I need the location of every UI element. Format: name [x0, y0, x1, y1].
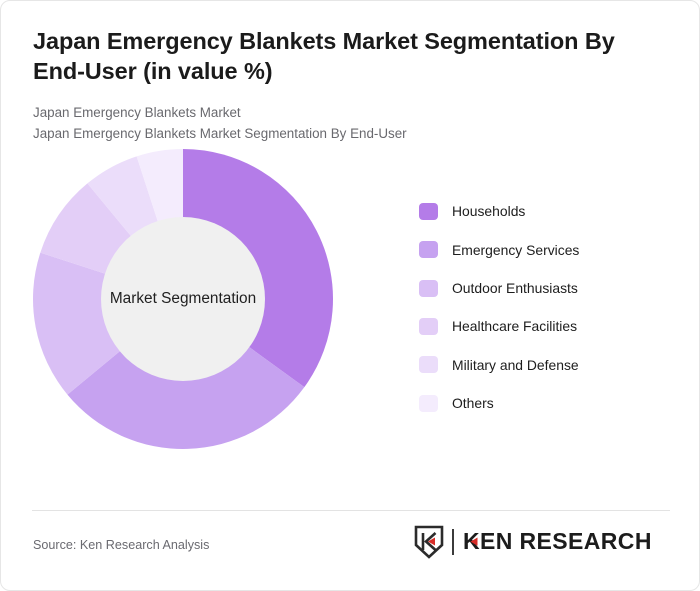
legend-item[interactable]: Emergency Services [419, 230, 579, 268]
legend-item-label: Healthcare Facilities [452, 318, 577, 334]
legend-item-label: Emergency Services [452, 242, 579, 258]
legend-item-label: Outdoor Enthusiasts [452, 280, 578, 296]
legend-item-label: Military and Defense [452, 357, 579, 373]
legend-swatch [419, 318, 438, 335]
footer-divider [32, 510, 670, 511]
donut-hole [101, 217, 265, 381]
legend-swatch [419, 395, 438, 412]
legend-swatch [419, 241, 438, 258]
ken-research-logo: KEN RESEARCH [414, 525, 669, 559]
legend-item[interactable]: Outdoor Enthusiasts [419, 269, 579, 307]
chart-header: Japan Emergency Blankets Market Segmenta… [1, 1, 699, 145]
legend-item[interactable]: Households [419, 192, 579, 230]
logo-wordmark-text: KEN RESEARCH [463, 529, 652, 554]
subtitle-block: Japan Emergency Blankets Market Japan Em… [33, 103, 667, 145]
subtitle-line-2: Japan Emergency Blankets Market Segmenta… [33, 124, 667, 145]
legend-item[interactable]: Healthcare Facilities [419, 307, 579, 345]
legend-item[interactable]: Military and Defense [419, 346, 579, 384]
chart-card: Japan Emergency Blankets Market Segmenta… [0, 0, 700, 591]
ken-research-wordmark: KEN RESEARCH [463, 529, 669, 555]
chart-legend: HouseholdsEmergency ServicesOutdoor Enth… [419, 192, 579, 422]
subtitle-line-1: Japan Emergency Blankets Market [33, 103, 667, 124]
legend-swatch [419, 356, 438, 373]
source-note: Source: Ken Research Analysis [33, 538, 209, 552]
donut-chart: Market Segmentation [30, 146, 336, 452]
page-title: Japan Emergency Blankets Market Segmenta… [33, 27, 653, 86]
legend-item[interactable]: Others [419, 384, 579, 422]
logo-divider [452, 529, 454, 555]
legend-swatch [419, 280, 438, 297]
chart-body: Market Segmentation HouseholdsEmergency … [1, 145, 699, 475]
legend-item-label: Households [452, 203, 525, 219]
donut-chart-svg [30, 146, 336, 452]
legend-item-label: Others [452, 395, 494, 411]
ken-research-shield-icon [414, 525, 444, 559]
legend-swatch [419, 203, 438, 220]
